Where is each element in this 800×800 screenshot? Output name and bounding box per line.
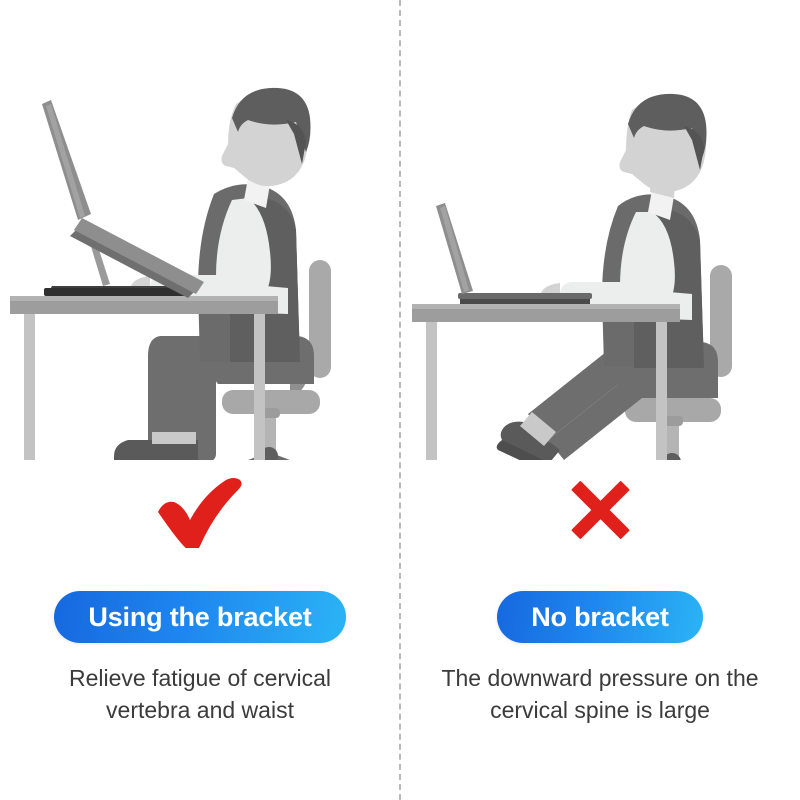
- caption-line: The downward pressure on the: [430, 662, 770, 694]
- verdict-mark-correct: [0, 470, 400, 550]
- pill-label-no-bracket[interactable]: No bracket: [497, 591, 703, 643]
- pill-no-bracket[interactable]: No bracket: [400, 588, 800, 646]
- caption-line: Relieve fatigue of cervical: [30, 662, 370, 694]
- caption-no-bracket: The downward pressure on the cervical sp…: [400, 662, 800, 726]
- illustration-using-bracket: [0, 60, 400, 460]
- pill-label-using-bracket[interactable]: Using the bracket: [54, 591, 345, 643]
- panel-using-bracket: Using the bracket Relieve fatigue of cer…: [0, 0, 400, 800]
- check-icon: [154, 472, 246, 548]
- cross-icon: [563, 473, 637, 547]
- panel-no-bracket: No bracket The downward pressure on the …: [400, 0, 800, 800]
- caption-line: vertebra and waist: [30, 694, 370, 726]
- pill-using-bracket[interactable]: Using the bracket: [0, 588, 400, 646]
- verdict-mark-incorrect: [400, 470, 800, 550]
- comparison-infographic: Using the bracket Relieve fatigue of cer…: [0, 0, 800, 800]
- illustration-no-bracket: [400, 60, 800, 460]
- caption-using-bracket: Relieve fatigue of cervical vertebra and…: [0, 662, 400, 726]
- caption-line: cervical spine is large: [430, 694, 770, 726]
